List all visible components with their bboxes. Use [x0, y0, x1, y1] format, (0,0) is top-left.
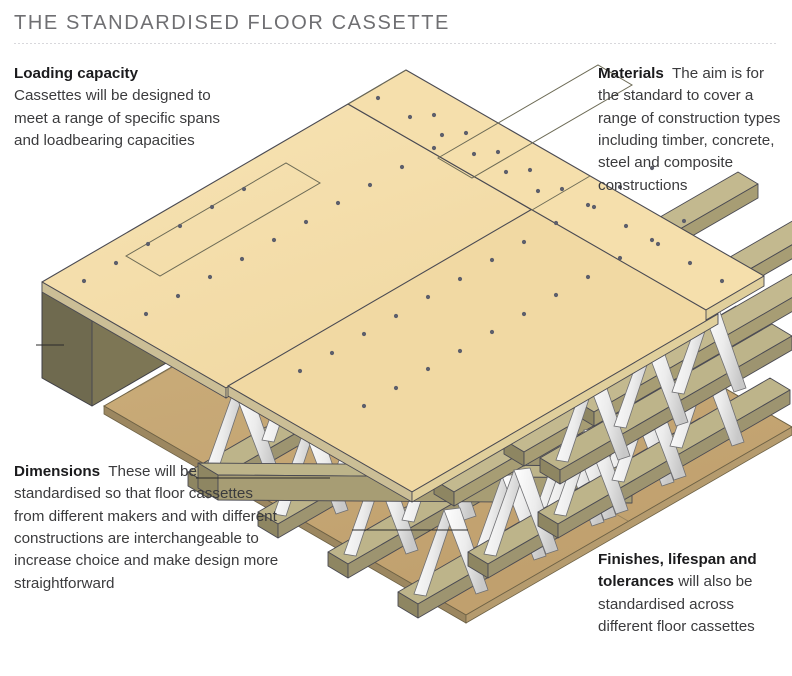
note-loading-capacity-body: Cassettes will be designed to meet a ran…	[14, 87, 220, 149]
note-materials-body: The aim is for the standard to cover a r…	[598, 65, 780, 194]
note-dimensions-body: These will be standardised so that floor…	[14, 463, 278, 592]
note-loading-capacity: Loading capacityCassettes will be design…	[14, 63, 229, 152]
infographic-page: THE STANDARDISED FLOOR CASSETTE	[0, 0, 792, 676]
note-dimensions-lead: Dimensions	[14, 463, 100, 480]
note-materials-lead: Materials	[598, 65, 664, 82]
note-loading-capacity-lead: Loading capacity	[14, 63, 229, 85]
note-materials: Materials The aim is for the standard to…	[598, 63, 784, 197]
note-finishes: Finishes, lifespan and tolerances will a…	[598, 549, 784, 638]
note-dimensions: Dimensions These will be standardised so…	[14, 461, 282, 595]
